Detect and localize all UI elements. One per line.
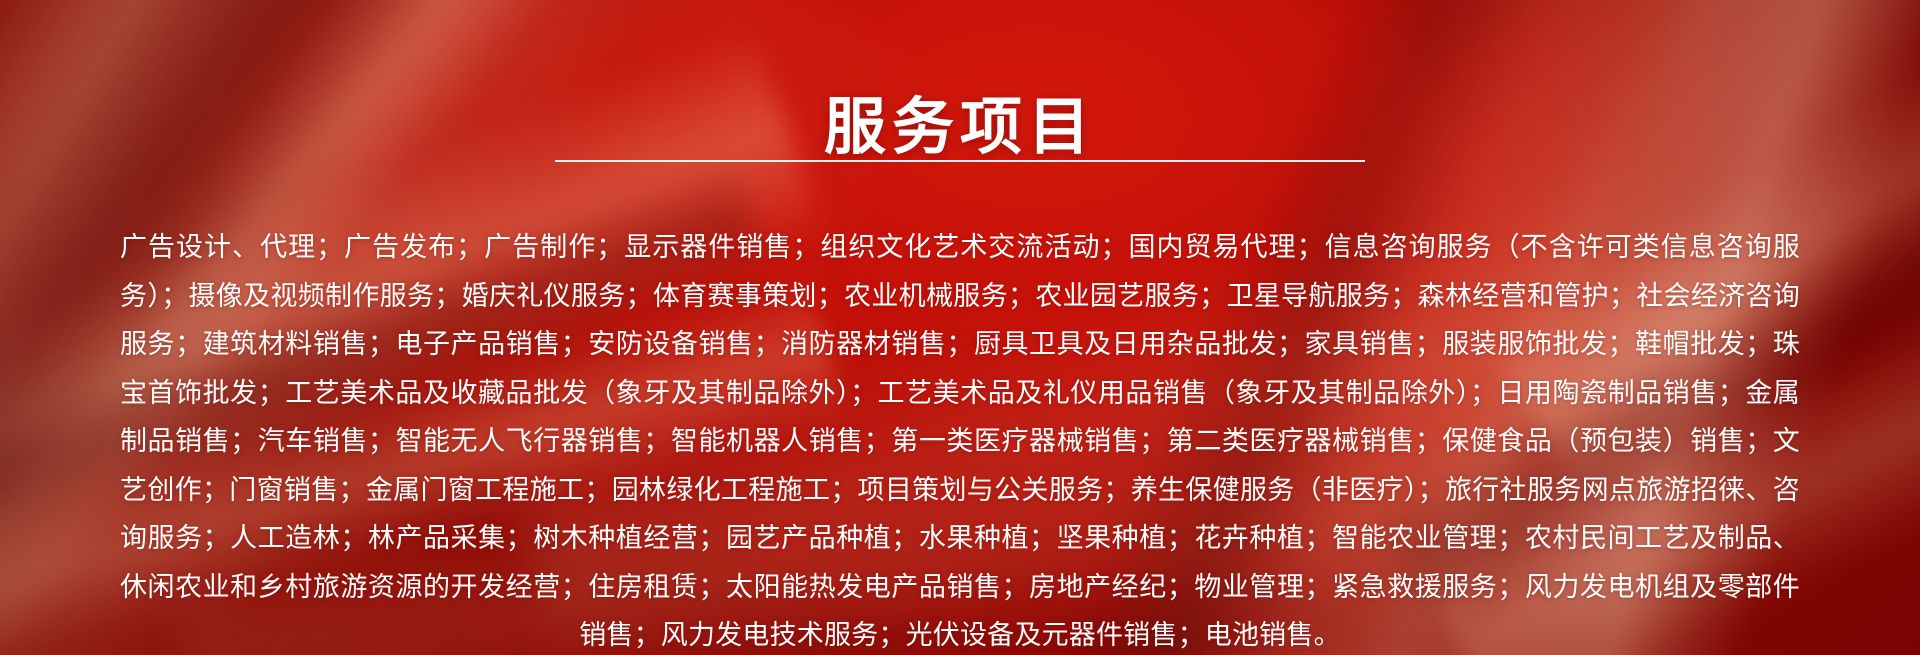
banner-content: 服务项目 广告设计、代理；广告发布；广告制作；显示器件销售；组织文化艺术交流活动… <box>0 0 1920 655</box>
service-banner: 服务项目 广告设计、代理；广告发布；广告制作；显示器件销售；组织文化艺术交流活动… <box>0 0 1920 655</box>
service-scope-paragraph: 广告设计、代理；广告发布；广告制作；显示器件销售；组织文化艺术交流活动；国内贸易… <box>120 223 1800 655</box>
page-title: 服务项目 <box>0 94 1920 162</box>
title-divider <box>555 160 1365 162</box>
